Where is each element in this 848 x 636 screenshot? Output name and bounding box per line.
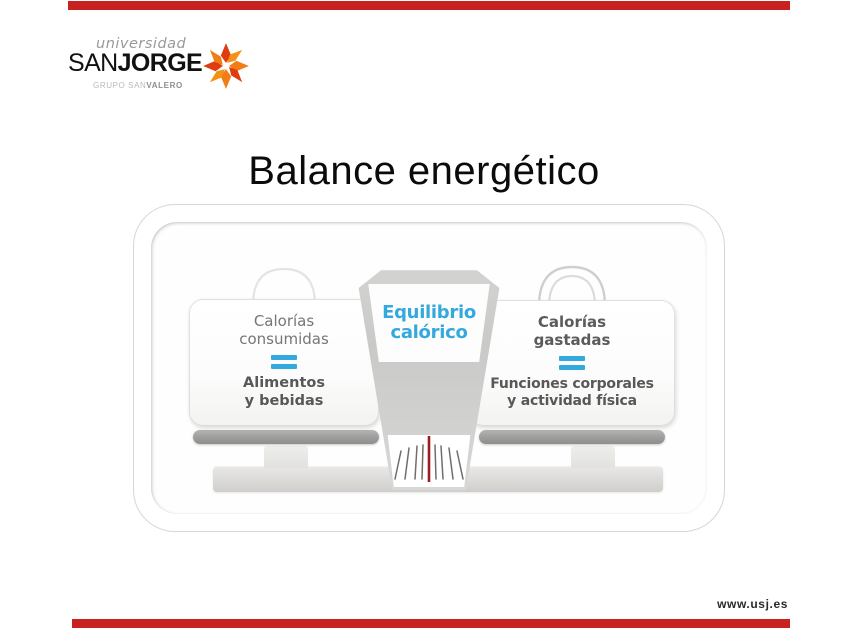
logo-grupo-prefix: GRUPO SAN [93, 81, 146, 90]
logo-jorge-text: JORGE [118, 49, 203, 77]
logo-sanjorge-text: SANJORGE [68, 51, 202, 76]
calories-consumed-subtitle: Alimentos y bebidas [197, 375, 371, 410]
footer-website-url[interactable]: www.usj.es [717, 597, 788, 611]
gauge-ticks-icon [385, 435, 473, 487]
page-title: Balance energético [0, 149, 848, 194]
gauge-screen: Equilibrio calórico [363, 284, 495, 362]
scale-pedestal-left [264, 446, 308, 468]
logo-grupo-text: GRUPO SANVALERO [93, 81, 183, 90]
equals-sign-right [559, 356, 585, 370]
scale-pedestal-right [571, 446, 615, 468]
equals-sign-left [271, 355, 297, 369]
caloric-balance-gauge: Equilibrio calórico [349, 268, 509, 490]
calories-consumed-title: Calorías consumidas [197, 313, 371, 348]
bottom-red-rule [72, 619, 790, 628]
usj-logo: universidad SANJORGE GRUPO SANVALERO [68, 36, 258, 98]
logo-valero-text: VALERO [146, 81, 182, 90]
gauge-dial-window [385, 435, 473, 487]
starburst-icon [200, 40, 252, 92]
logo-san-text: SAN [68, 49, 118, 77]
gauge-label: Equilibrio calórico [382, 303, 476, 343]
illustration-canvas: Calorías consumidas Alimentos y bebidas … [151, 222, 707, 514]
top-red-rule [68, 1, 790, 10]
energy-balance-illustration: Calorías consumidas Alimentos y bebidas … [141, 212, 717, 524]
